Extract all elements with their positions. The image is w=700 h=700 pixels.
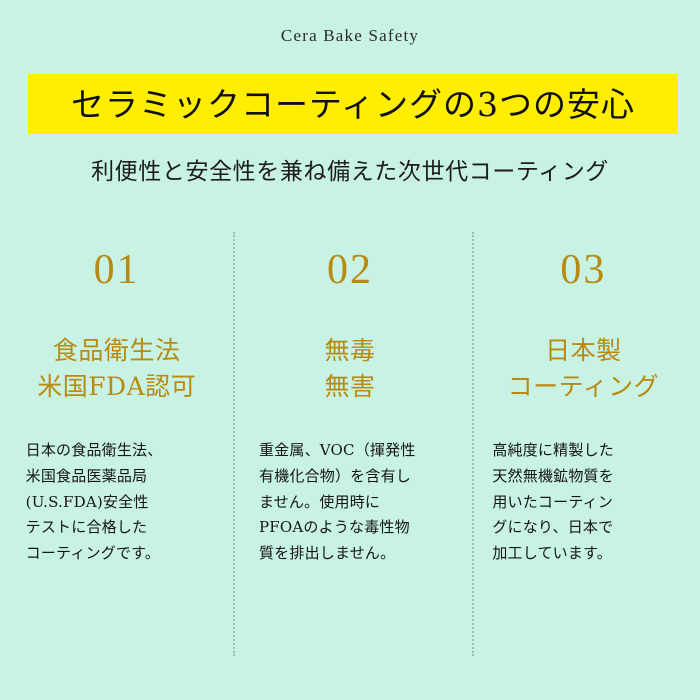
feature-columns: 01 食品衛生法 米国FDA認可 日本の食品衛生法、 米国食品医薬品局 (U.S… xyxy=(0,232,700,656)
feature-heading: 無毒 無害 xyxy=(324,333,375,404)
feature-body-line: 有機化合物）を含有し xyxy=(259,464,441,490)
feature-body-line: 日本の食品衛生法、 xyxy=(26,438,208,464)
feature-heading: 日本製 コーティング xyxy=(508,333,660,404)
feature-body-line: 加工しています。 xyxy=(492,541,674,567)
subtitle-text: 利便性と安全性を兼ね備えた次世代コーティング xyxy=(0,152,700,186)
feature-heading-line: 日本製 xyxy=(508,333,660,369)
feature-body-line: 重金属、VOC（揮発性 xyxy=(259,438,441,464)
feature-heading-line: 食品衛生法 xyxy=(37,333,196,369)
feature-body: 日本の食品衛生法、 米国食品医薬品局 (U.S.FDA)安全性 テストに合格した… xyxy=(26,438,208,567)
feature-heading-line: コーティング xyxy=(508,369,660,405)
feature-body: 重金属、VOC（揮発性 有機化合物）を含有し ません。使用時に PFOAのような… xyxy=(259,438,441,567)
headline-text: セラミックコーティングの3つの安心 xyxy=(71,88,635,121)
feature-body-line: グになり、日本で xyxy=(492,515,674,541)
feature-column-02: 02 無毒 無害 重金属、VOC（揮発性 有機化合物）を含有し ません。使用時に… xyxy=(233,232,466,656)
feature-body-line: ません。使用時に xyxy=(259,490,441,516)
feature-column-03: 03 日本製 コーティング 高純度に精製した 天然無機鉱物質を 用いたコーティン… xyxy=(467,232,700,656)
feature-heading-line: 米国FDA認可 xyxy=(37,369,196,405)
feature-body-line: 米国食品医薬品局 xyxy=(26,464,208,490)
feature-body: 高純度に精製した 天然無機鉱物質を 用いたコーティン グになり、日本で 加工して… xyxy=(492,438,674,567)
feature-body-line: 高純度に精製した xyxy=(492,438,674,464)
feature-body-line: (U.S.FDA)安全性 xyxy=(26,490,208,516)
feature-body-line: テストに合格した xyxy=(26,515,208,541)
feature-body-line: コーティングです。 xyxy=(26,541,208,567)
feature-number: 02 xyxy=(327,249,373,291)
feature-body-line: 質を排出しません。 xyxy=(259,541,441,567)
feature-heading: 食品衛生法 米国FDA認可 xyxy=(37,333,196,404)
brand-eyebrow: Cera Bake Safety xyxy=(0,26,700,46)
headline-banner: セラミックコーティングの3つの安心 xyxy=(28,74,678,134)
feature-number: 01 xyxy=(94,249,140,291)
feature-body-line: PFOAのような毒性物 xyxy=(259,515,441,541)
feature-column-01: 01 食品衛生法 米国FDA認可 日本の食品衛生法、 米国食品医薬品局 (U.S… xyxy=(0,232,233,656)
feature-heading-line: 無害 xyxy=(324,369,375,405)
feature-body-line: 天然無機鉱物質を xyxy=(492,464,674,490)
feature-body-line: 用いたコーティン xyxy=(492,490,674,516)
feature-heading-line: 無毒 xyxy=(324,333,375,369)
feature-number: 03 xyxy=(560,249,606,291)
infographic-page: Cera Bake Safety セラミックコーティングの3つの安心 利便性と安… xyxy=(0,0,700,700)
